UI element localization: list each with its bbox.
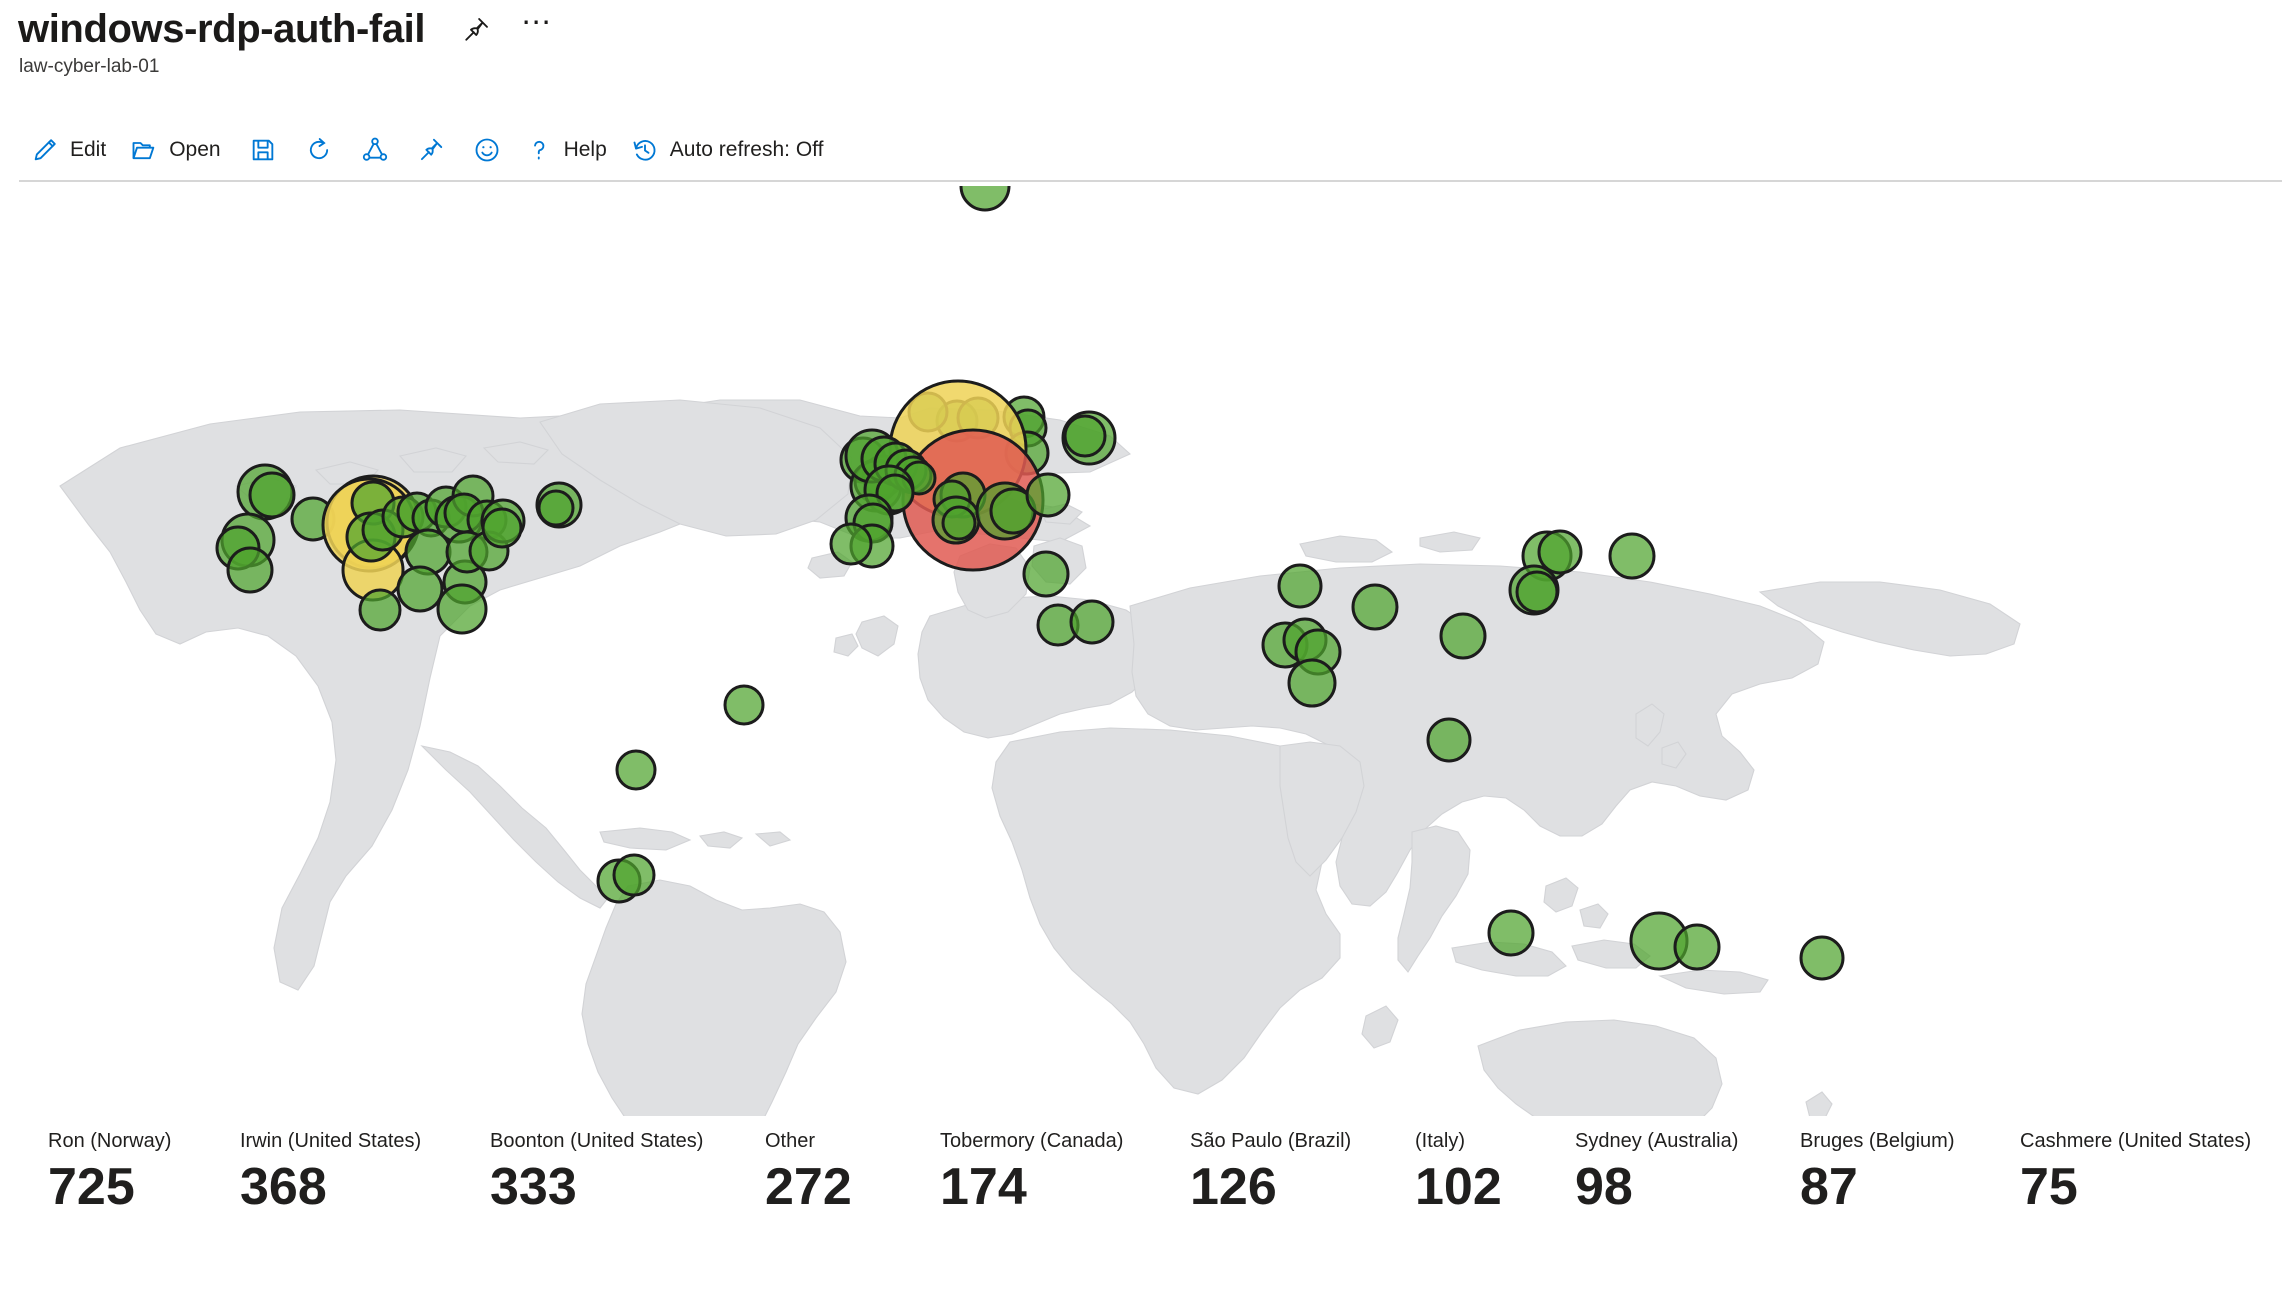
page-title: windows-rdp-auth-fail xyxy=(18,8,425,51)
auto-refresh-label: Auto refresh: Off xyxy=(670,138,824,162)
legend-item-value: 75 xyxy=(2020,1158,2251,1216)
world-map-svg[interactable] xyxy=(0,186,2282,1116)
map-bubble[interactable] xyxy=(617,751,655,789)
legend-item-value: 87 xyxy=(1800,1158,1955,1216)
map-bubble[interactable] xyxy=(360,590,400,630)
map-bubble[interactable] xyxy=(228,548,272,592)
folder-open-icon xyxy=(130,136,158,164)
legend-strip: Ron (Norway)725Irwin (United States)368B… xyxy=(0,1130,2282,1280)
map-bubble[interactable] xyxy=(1027,474,1069,516)
map-bubble[interactable] xyxy=(1539,531,1581,573)
open-label: Open xyxy=(169,138,220,162)
map-bubble[interactable] xyxy=(539,491,573,525)
smiley-icon xyxy=(473,136,501,164)
clock-history-icon xyxy=(631,136,659,164)
legend-item-label: Other xyxy=(765,1130,852,1152)
legend-item-value: 272 xyxy=(765,1158,852,1216)
map-bubble[interactable] xyxy=(943,507,975,539)
title-row: windows-rdp-auth-fail ⋯ xyxy=(0,0,2282,51)
map-bubble[interactable] xyxy=(1517,572,1557,612)
legend-item[interactable]: Boonton (United States)333 xyxy=(490,1130,703,1216)
map-bubble[interactable] xyxy=(1428,719,1470,761)
map-bubble[interactable] xyxy=(483,509,521,547)
legend-item-value: 126 xyxy=(1190,1158,1351,1216)
map-bubble[interactable] xyxy=(398,567,442,611)
legend-item-label: Irwin (United States) xyxy=(240,1130,421,1152)
legend-item-value: 102 xyxy=(1415,1158,1502,1216)
legend-item[interactable]: Bruges (Belgium)87 xyxy=(1800,1130,1955,1216)
legend-item[interactable]: Tobermory (Canada)174 xyxy=(940,1130,1123,1216)
map-bubble[interactable] xyxy=(1441,614,1485,658)
pin-button[interactable] xyxy=(404,128,458,172)
legend-item[interactable]: Ron (Norway)725 xyxy=(48,1130,171,1216)
map-bubble[interactable] xyxy=(1353,585,1397,629)
map-bubble[interactable] xyxy=(1489,911,1533,955)
refresh-button[interactable] xyxy=(292,128,346,172)
dashboard-root: windows-rdp-auth-fail ⋯ law-cyber-lab-01… xyxy=(0,0,2282,1296)
legend-item-label: (Italy) xyxy=(1415,1130,1502,1152)
edit-button[interactable]: Edit xyxy=(22,128,115,172)
command-bar-divider xyxy=(19,180,2282,182)
refresh-icon xyxy=(305,136,333,164)
save-button[interactable] xyxy=(236,128,290,172)
save-icon xyxy=(249,136,277,164)
map-bubble[interactable] xyxy=(1675,925,1719,969)
legend-item[interactable]: Cashmere (United States)75 xyxy=(2020,1130,2251,1216)
legend-item-label: Boonton (United States) xyxy=(490,1130,703,1152)
legend-item-label: Cashmere (United States) xyxy=(2020,1130,2251,1152)
help-button[interactable]: Help xyxy=(516,128,616,172)
legend-item[interactable]: Sydney (Australia)98 xyxy=(1575,1130,1738,1216)
legend-item[interactable]: (Italy)102 xyxy=(1415,1130,1502,1216)
map-bubble[interactable] xyxy=(1801,937,1843,979)
legend-item-label: Ron (Norway) xyxy=(48,1130,171,1152)
share-icon xyxy=(361,136,389,164)
bubble-map[interactable] xyxy=(0,186,2282,1116)
question-icon xyxy=(525,136,553,164)
map-bubble[interactable] xyxy=(1071,601,1113,643)
legend-item-value: 368 xyxy=(240,1158,421,1216)
map-bubble[interactable] xyxy=(961,186,1009,210)
legend-item-value: 725 xyxy=(48,1158,171,1216)
map-bubble[interactable] xyxy=(1289,660,1335,706)
map-bubble[interactable] xyxy=(438,585,486,633)
legend-item-label: Tobermory (Canada) xyxy=(940,1130,1123,1152)
legend-item[interactable]: São Paulo (Brazil)126 xyxy=(1190,1130,1351,1216)
legend-item[interactable]: Other272 xyxy=(765,1130,852,1216)
legend-item-label: Bruges (Belgium) xyxy=(1800,1130,1955,1152)
command-bar: Edit Open xyxy=(0,124,2282,176)
map-bubble[interactable] xyxy=(1279,565,1321,607)
map-bubble[interactable] xyxy=(831,524,871,564)
pencil-icon xyxy=(31,136,59,164)
map-bubble[interactable] xyxy=(614,855,654,895)
help-label: Help xyxy=(564,138,607,162)
legend-item-label: Sydney (Australia) xyxy=(1575,1130,1738,1152)
legend-item[interactable]: Irwin (United States)368 xyxy=(240,1130,421,1216)
legend-item-value: 333 xyxy=(490,1158,703,1216)
map-bubble[interactable] xyxy=(250,473,294,517)
pin-icon[interactable] xyxy=(461,15,491,45)
map-bubble[interactable] xyxy=(1024,552,1068,596)
pin-icon xyxy=(417,136,445,164)
page-subtitle: law-cyber-lab-01 xyxy=(0,56,2282,78)
auto-refresh-button[interactable]: Auto refresh: Off xyxy=(622,128,833,172)
page-header: windows-rdp-auth-fail ⋯ law-cyber-lab-01 xyxy=(0,0,2282,78)
edit-label: Edit xyxy=(70,138,106,162)
feedback-button[interactable] xyxy=(460,128,514,172)
ellipsis-icon[interactable]: ⋯ xyxy=(521,19,553,41)
legend-item-value: 98 xyxy=(1575,1158,1738,1216)
map-bubble[interactable] xyxy=(1610,534,1654,578)
legend-item-label: São Paulo (Brazil) xyxy=(1190,1130,1351,1152)
map-bubble[interactable] xyxy=(1065,416,1105,456)
open-button[interactable]: Open xyxy=(121,128,229,172)
legend-item-value: 174 xyxy=(940,1158,1123,1216)
map-bubble[interactable] xyxy=(725,686,763,724)
share-button[interactable] xyxy=(348,128,402,172)
